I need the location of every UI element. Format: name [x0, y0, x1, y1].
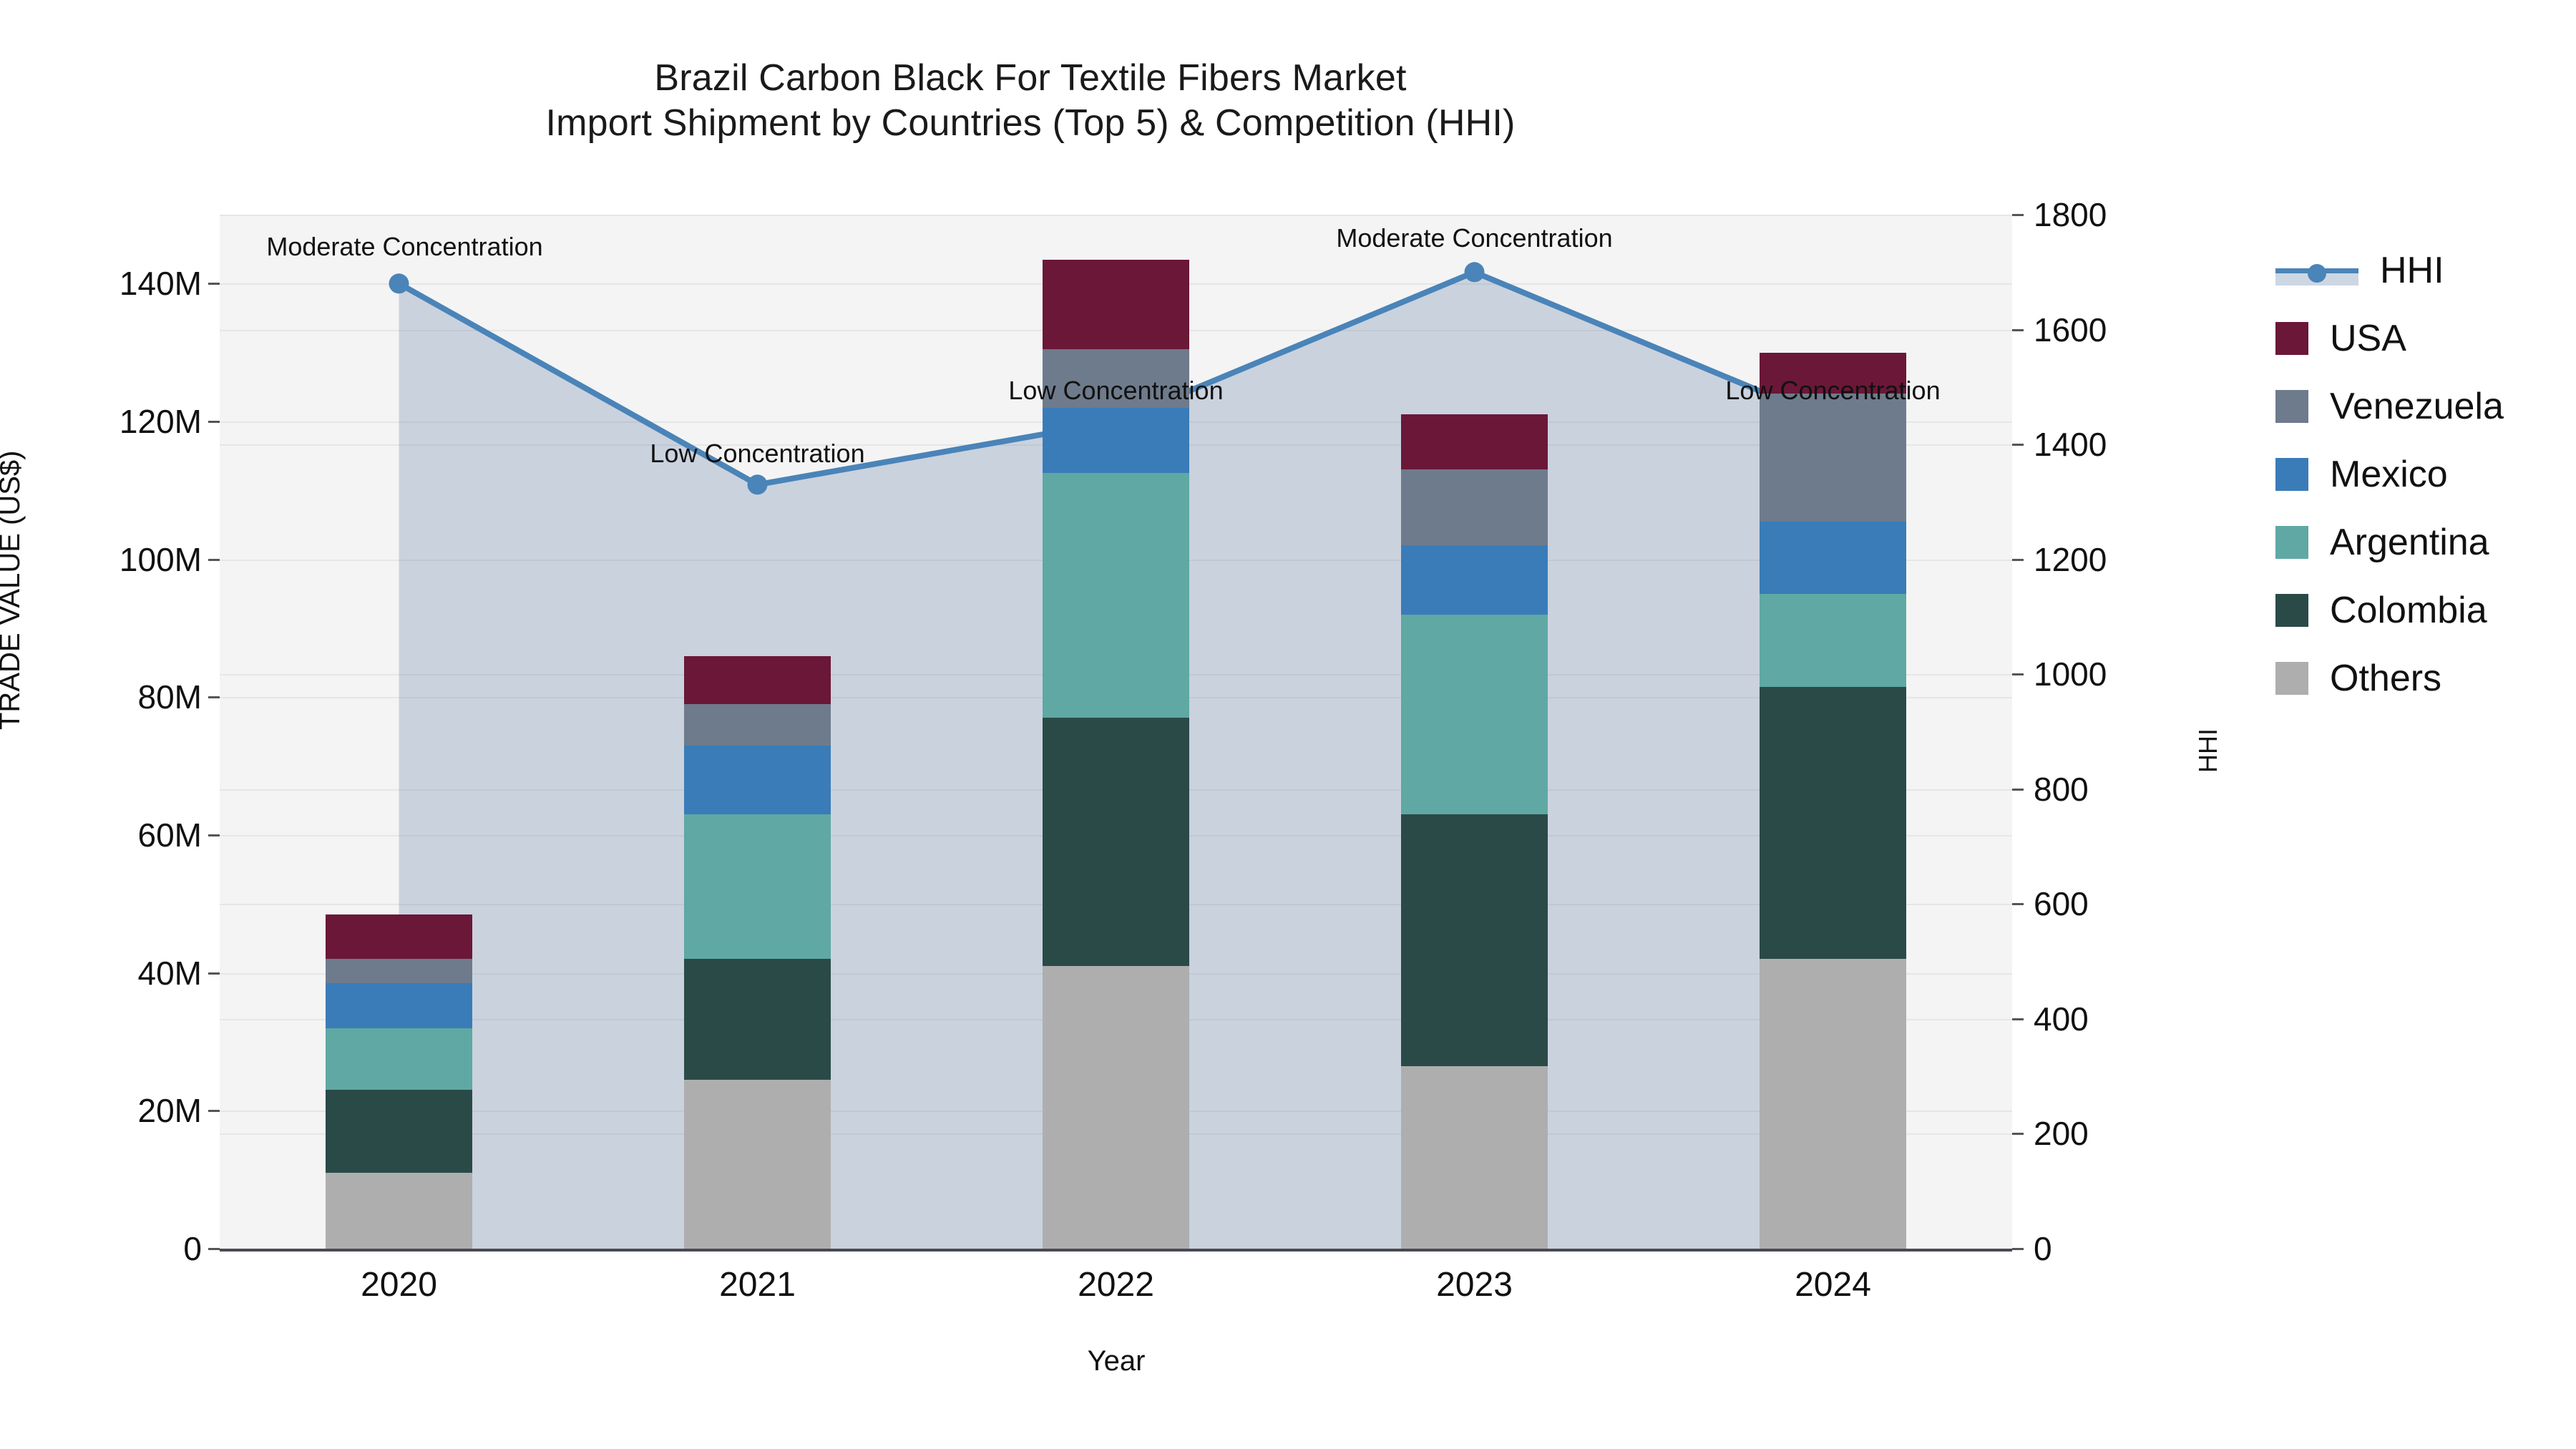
legend-line-dot	[2308, 264, 2326, 283]
y-axis-right-tick: 1800	[2034, 195, 2107, 234]
bar-segment-others[interactable]	[684, 1080, 831, 1249]
y-axis-left-tickmark	[208, 1110, 220, 1112]
y-axis-left-tick: 140M	[119, 264, 202, 303]
y-axis-left-tick: 40M	[138, 954, 202, 992]
y-axis-right-title: HHI	[2193, 728, 2223, 773]
legend-label: USA	[2330, 320, 2406, 357]
y-axis-right-tick: 1400	[2034, 425, 2107, 464]
chart-title-block: Brazil Carbon Black For Textile Fibers M…	[0, 56, 2061, 147]
y-axis-left-tickmark	[208, 283, 220, 285]
y-axis-right-tickmark	[2012, 1248, 2024, 1250]
y-axis-left-tickmark	[208, 559, 220, 561]
legend-label: Argentina	[2330, 524, 2489, 561]
legend-swatch-mexico	[2275, 458, 2308, 491]
bar-segment-argentina[interactable]	[1401, 615, 1548, 814]
legend-swatch-usa	[2275, 322, 2308, 355]
legend-swatch-argentina	[2275, 526, 2308, 559]
legend-line-marker	[2275, 254, 2358, 287]
legend-label: Colombia	[2330, 592, 2487, 629]
y-axis-right-tick: 0	[2034, 1229, 2052, 1268]
y-axis-right-tickmark	[2012, 1133, 2024, 1135]
x-axis-tick-2022: 2022	[1078, 1265, 1154, 1304]
legend-label: Venezuela	[2330, 388, 2504, 425]
y-axis-left-tickmark	[208, 1248, 220, 1250]
bar-segment-mexico[interactable]	[326, 983, 472, 1028]
y-axis-right-tick: 800	[2034, 770, 2089, 809]
y-axis-left-tickmark	[208, 421, 220, 423]
bar-segment-colombia[interactable]	[326, 1090, 472, 1173]
bar-segment-venezuela[interactable]	[1760, 394, 1906, 521]
legend-item-colombia[interactable]: Colombia	[2275, 576, 2504, 644]
bar-segment-colombia[interactable]	[1760, 687, 1906, 960]
chart-title-line-1: Brazil Carbon Black For Textile Fibers M…	[0, 56, 2061, 101]
y-axis-right-tick: 1600	[2034, 311, 2107, 349]
y-axis-right-tickmark	[2012, 673, 2024, 675]
x-axis-line	[220, 1249, 2012, 1252]
y-axis-left-tick: 0	[183, 1229, 202, 1268]
x-axis-tick-2024: 2024	[1795, 1265, 1871, 1304]
y-axis-left-tick: 60M	[138, 816, 202, 854]
y-axis-right-tick: 400	[2034, 1000, 2089, 1038]
y-axis-left-tick: 120M	[119, 402, 202, 441]
bar-segment-mexico[interactable]	[1760, 522, 1906, 594]
x-axis-title: Year	[1088, 1345, 1146, 1377]
bar-segment-venezuela[interactable]	[326, 959, 472, 983]
y-axis-right-tick: 200	[2034, 1114, 2089, 1153]
legend-item-others[interactable]: Others	[2275, 644, 2504, 712]
bar-segment-argentina[interactable]	[1760, 594, 1906, 687]
y-axis-right-tick: 600	[2034, 884, 2089, 923]
y-axis-right-tick: 1200	[2034, 540, 2107, 579]
bar-stack-2022	[1043, 215, 1189, 1249]
chart-title-line-2: Import Shipment by Countries (Top 5) & C…	[0, 101, 2061, 146]
bar-segment-argentina[interactable]	[1043, 473, 1189, 718]
y-axis-right-tick: 1000	[2034, 655, 2107, 693]
legend-item-hhi[interactable]: HHI	[2275, 236, 2504, 304]
legend-swatch-colombia	[2275, 594, 2308, 627]
bar-stack-2021	[684, 215, 831, 1249]
y-axis-right-tickmark	[2012, 214, 2024, 216]
y-axis-left-title: TRADE VALUE (US$)	[0, 451, 26, 730]
bar-segment-others[interactable]	[1401, 1066, 1548, 1249]
bar-segment-mexico[interactable]	[1401, 545, 1548, 614]
legend-item-mexico[interactable]: Mexico	[2275, 440, 2504, 508]
y-axis-left-tick: 20M	[138, 1091, 202, 1130]
bar-segment-venezuela[interactable]	[1043, 349, 1189, 408]
y-axis-right-tickmark	[2012, 444, 2024, 446]
bar-segment-others[interactable]	[1043, 966, 1189, 1249]
y-axis-right-tickmark	[2012, 903, 2024, 905]
bar-segment-mexico[interactable]	[684, 746, 831, 814]
bar-segment-usa[interactable]	[326, 914, 472, 960]
bar-stack-2024	[1760, 215, 1906, 1249]
bar-segment-argentina[interactable]	[326, 1028, 472, 1091]
bar-segment-others[interactable]	[1760, 959, 1906, 1249]
y-axis-left-tickmark	[208, 696, 220, 698]
legend-swatch-others	[2275, 662, 2308, 695]
x-axis-tick-2021: 2021	[719, 1265, 796, 1304]
legend-label: Mexico	[2330, 456, 2448, 493]
y-axis-right-tickmark	[2012, 329, 2024, 331]
bar-segment-usa[interactable]	[684, 656, 831, 704]
bar-segment-colombia[interactable]	[684, 959, 831, 1080]
bar-stack-2020	[326, 215, 472, 1249]
bar-segment-usa[interactable]	[1760, 353, 1906, 394]
y-axis-right-tickmark	[2012, 1018, 2024, 1020]
bar-segment-venezuela[interactable]	[1401, 469, 1548, 545]
bar-segment-mexico[interactable]	[1043, 408, 1189, 474]
bar-stack-2023	[1401, 215, 1548, 1249]
legend-item-venezuela[interactable]: Venezuela	[2275, 372, 2504, 440]
legend-item-argentina[interactable]: Argentina	[2275, 508, 2504, 576]
bar-segment-others[interactable]	[326, 1173, 472, 1249]
bar-segment-usa[interactable]	[1043, 260, 1189, 349]
bar-segment-usa[interactable]	[1401, 414, 1548, 469]
bar-segment-argentina[interactable]	[684, 814, 831, 959]
y-axis-right-tickmark	[2012, 789, 2024, 791]
bar-segment-colombia[interactable]	[1401, 814, 1548, 1066]
legend-item-usa[interactable]: USA	[2275, 304, 2504, 372]
legend-label: HHI	[2380, 252, 2444, 289]
legend: HHIUSAVenezuelaMexicoArgentinaColombiaOt…	[2275, 236, 2504, 712]
y-axis-left-tick: 100M	[119, 540, 202, 579]
x-axis-tick-2023: 2023	[1436, 1265, 1513, 1304]
x-axis-tick-2020: 2020	[361, 1265, 437, 1304]
legend-label: Others	[2330, 660, 2441, 697]
y-axis-left-tickmark	[208, 972, 220, 975]
y-axis-left-tick: 80M	[138, 678, 202, 716]
y-axis-left-tickmark	[208, 834, 220, 836]
bar-segment-colombia[interactable]	[1043, 718, 1189, 966]
bar-segment-venezuela[interactable]	[684, 704, 831, 746]
y-axis-right-tickmark	[2012, 559, 2024, 561]
legend-swatch-venezuela	[2275, 390, 2308, 423]
